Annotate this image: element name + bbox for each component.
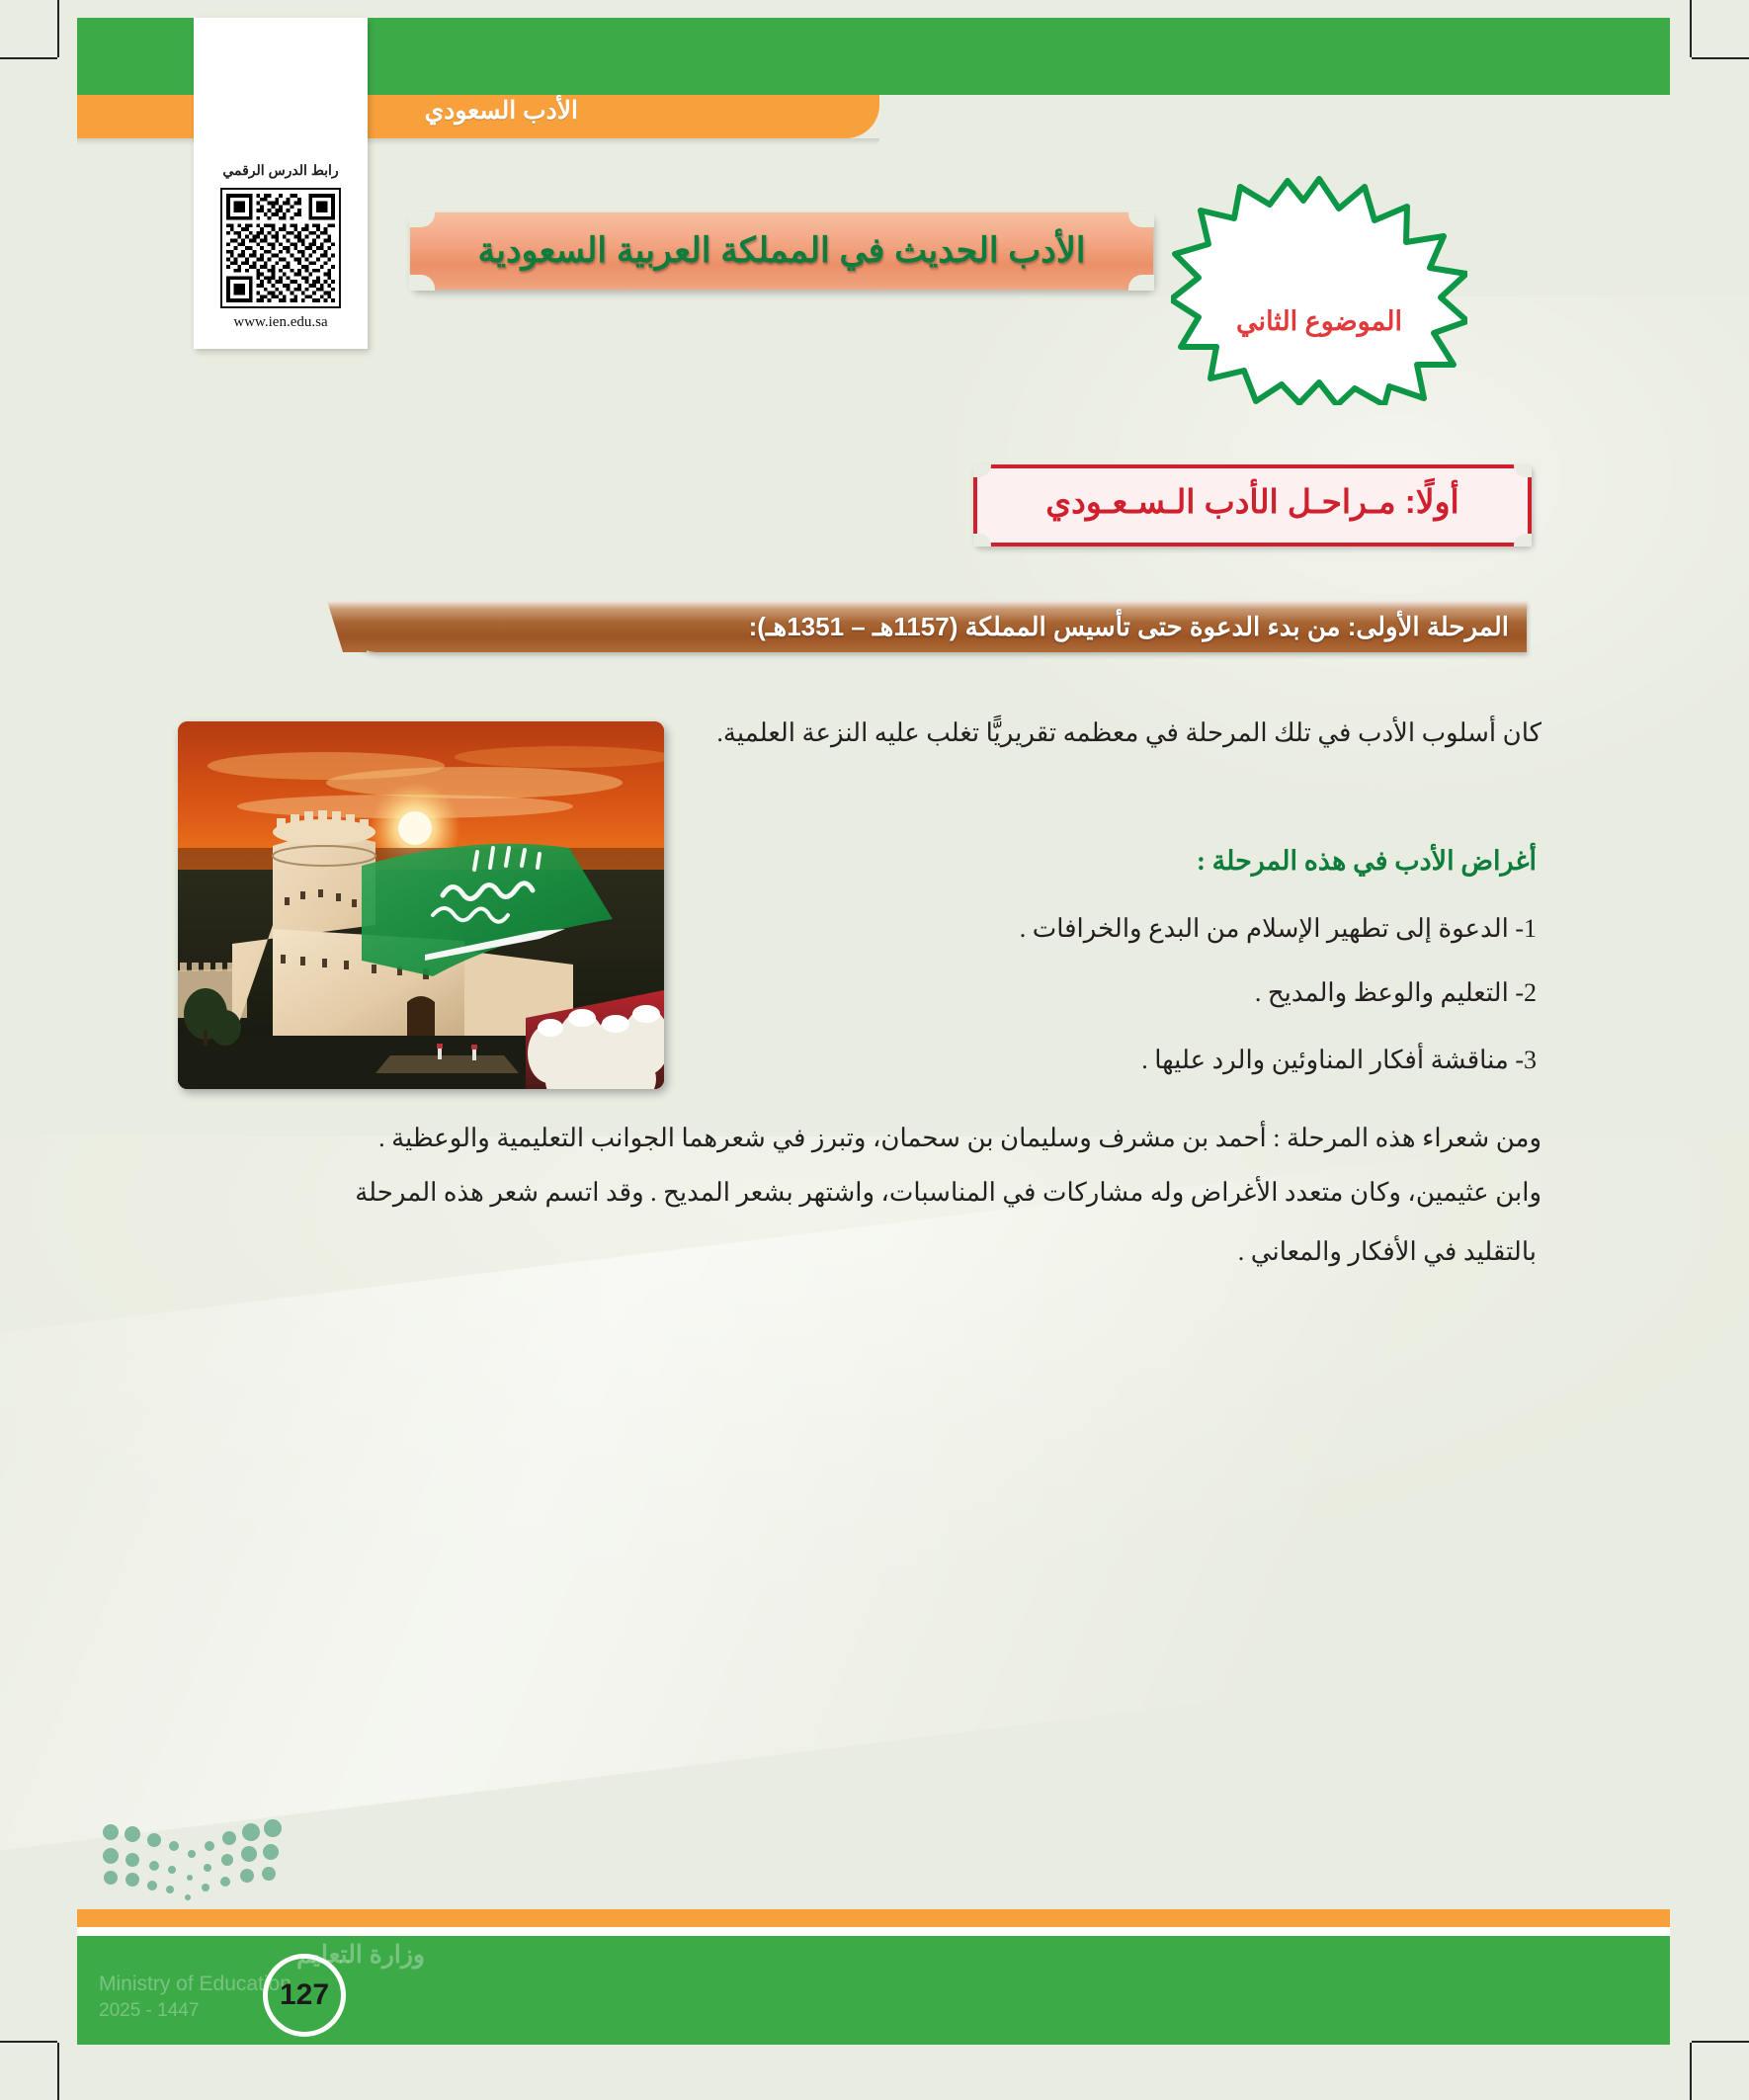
section-tab-label: الأدب السعودي bbox=[425, 96, 578, 126]
lesson-title-banner: الأدب الحديث في المملكة العربية السعودية bbox=[410, 212, 1153, 290]
section-heading-first: أولًا: مـراحـل الأدب الـسـعـودي bbox=[973, 464, 1532, 546]
qr-url-label: www.ien.edu.sa bbox=[194, 314, 368, 331]
footer-orange-band bbox=[77, 1909, 1670, 1927]
paragraph-poets-3: بالتقليد في الأفكار والمعاني . bbox=[1238, 1225, 1537, 1279]
crop-mark-bottom-right-h bbox=[1692, 2041, 1749, 2043]
page-number: 127 bbox=[263, 1954, 346, 2037]
crop-mark-bottom-left-v bbox=[57, 2043, 59, 2100]
topic-badge: الموضوع الثاني bbox=[1171, 173, 1467, 405]
stage-heading-bar: المرحلة الأولى: من بدء الدعوة حتى تأسيس … bbox=[351, 601, 1527, 652]
list-item: 1- الدعوة إلى تطهير الإسلام من البدع وال… bbox=[1020, 914, 1537, 944]
paragraph-poets-2: وابن عثيمين، وكان متعدد الأغراض وله مشار… bbox=[212, 1166, 1541, 1219]
crop-mark-top-left-v bbox=[57, 0, 59, 57]
red-head-notch-br bbox=[1514, 534, 1532, 546]
list-item: 2- التعليم والوعظ والمديح . bbox=[1255, 978, 1537, 1008]
paragraph-poets-1: ومن شعراء هذه المرحلة : أحمد بن مشرف وسل… bbox=[212, 1112, 1541, 1165]
section-heading-first-text: أولًا: مـراحـل الأدب الـسـعـودي bbox=[977, 468, 1528, 535]
crop-mark-top-left-h bbox=[0, 57, 57, 59]
stage-bar-tail bbox=[327, 601, 367, 652]
qr-code-icon[interactable] bbox=[220, 188, 341, 308]
crop-mark-bottom-left-h bbox=[0, 2041, 57, 2043]
crop-mark-top-right-h bbox=[1692, 57, 1749, 59]
qr-caption: رابط الدرس الرقمي bbox=[194, 162, 368, 179]
red-head-notch-bl bbox=[973, 534, 991, 546]
lesson-title-text: الأدب الحديث في المملكة العربية السعودية bbox=[410, 212, 1153, 290]
footer-white-band bbox=[77, 1927, 1670, 1936]
crop-mark-bottom-right-v bbox=[1690, 2043, 1692, 2100]
digital-lesson-card[interactable]: رابط الدرس الرقمي bbox=[194, 18, 368, 349]
stage-heading-text: المرحلة الأولى: من بدء الدعوة حتى تأسيس … bbox=[749, 601, 1509, 652]
list-item: 3- مناقشة أفكار المناوئين والرد عليها . bbox=[1141, 1046, 1537, 1075]
lesson-photo bbox=[178, 721, 664, 1089]
ministry-name-arabic: وزارة التعليم bbox=[99, 1939, 425, 1972]
purposes-subheading: أغراض الأدب في هذه المرحلة : bbox=[1197, 846, 1537, 877]
ministry-logo-icon bbox=[99, 1818, 292, 1905]
ministry-years: 2025 - 1447 bbox=[99, 2000, 199, 2022]
topic-badge-label: الموضوع الثاني bbox=[1171, 173, 1467, 405]
paragraph-intro: كان أسلوب الأدب في تلك المرحلة في معظمه … bbox=[623, 707, 1541, 760]
crop-mark-top-right-v bbox=[1690, 0, 1692, 57]
textbook-page: الأدب السعودي رابط الدرس الرقمي bbox=[0, 0, 1749, 2100]
